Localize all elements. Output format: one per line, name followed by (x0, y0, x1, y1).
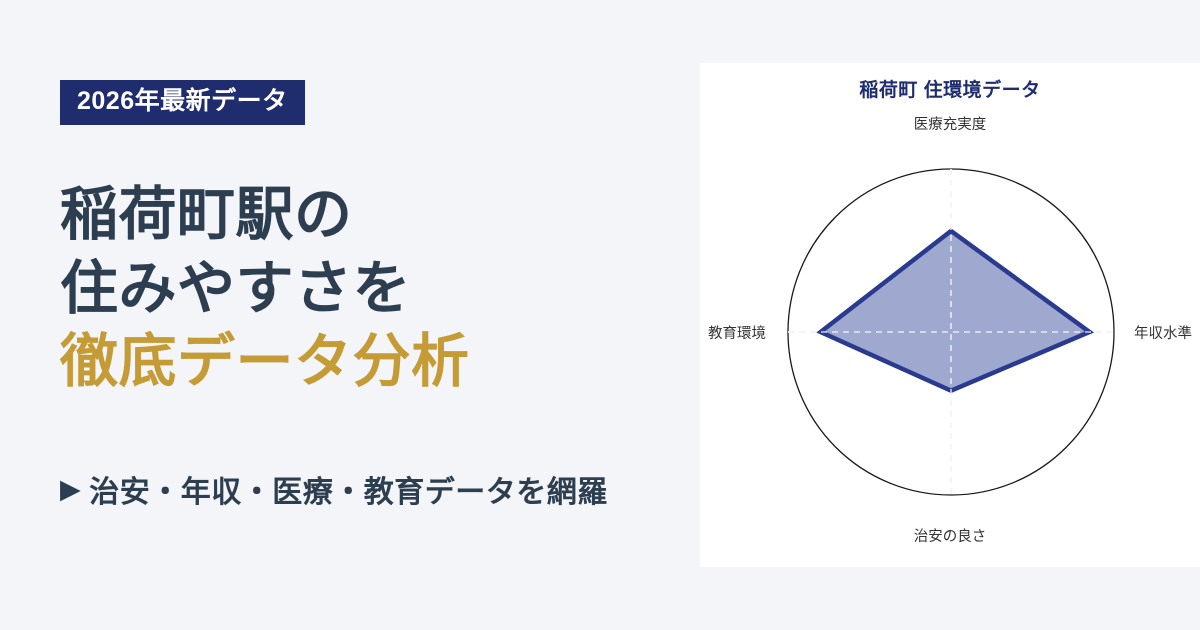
headline-line-1: 稲荷町駅の (60, 178, 470, 252)
radar-data-polygon (821, 231, 1090, 391)
radar-chart: 医療充実度 年収水準 治安の良さ 教育環境 (700, 63, 1200, 567)
radar-axis-label-top: 医療充実度 (700, 113, 1200, 134)
radar-axis-label-right: 年収水準 (1134, 322, 1192, 343)
radar-chart-panel: 稲荷町 住環境データ 医療充実度 年収水準 治安の良さ 教育環境 (700, 63, 1200, 567)
radar-chart-svg (700, 63, 1200, 567)
subtitle-text: 治安・年収・医療・教育データを網羅 (89, 467, 608, 511)
subtitle: ▶ 治安・年収・医療・教育データを網羅 (60, 467, 608, 511)
latest-data-badge: 2026年最新データ (60, 80, 305, 125)
hero-text-column: 2026年最新データ 稲荷町駅の 住みやすさを 徹底データ分析 ▶ 治安・年収・… (60, 0, 700, 630)
triangle-right-icon: ▶ (60, 476, 81, 503)
radar-axis-label-bottom: 治安の良さ (700, 525, 1200, 546)
headline-line-3: 徹底データ分析 (60, 325, 470, 399)
radar-axis-label-left: 教育環境 (708, 322, 766, 343)
headline-line-2: 住みやすさを (60, 252, 470, 326)
page-title: 稲荷町駅の 住みやすさを 徹底データ分析 (60, 178, 470, 399)
